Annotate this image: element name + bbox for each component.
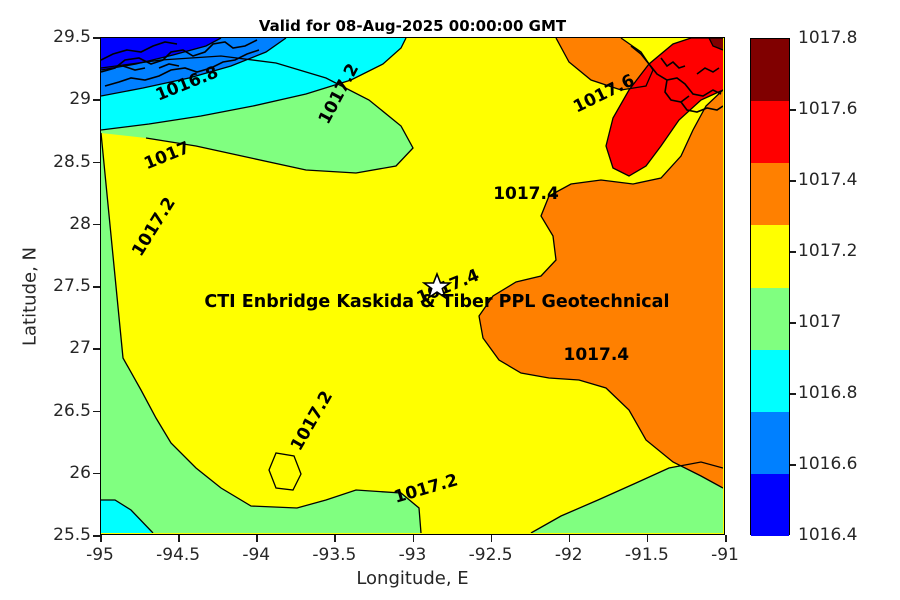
colorbar[interactable] bbox=[750, 38, 790, 535]
x-tick-mark bbox=[725, 535, 727, 542]
x-tick-mark bbox=[256, 535, 258, 542]
y-tick-mark bbox=[93, 37, 100, 39]
colorbar-tick-label: 1016.6 bbox=[798, 454, 857, 474]
colorbar-tick-label: 1016.8 bbox=[798, 383, 857, 403]
x-tick-label: -93 bbox=[399, 545, 427, 565]
y-tick-mark bbox=[93, 224, 100, 226]
colorbar-band bbox=[751, 474, 789, 536]
colorbar-tick-label: 1017.2 bbox=[798, 241, 857, 261]
x-tick-label: -94 bbox=[242, 545, 270, 565]
y-tick-label: 28.5 bbox=[5, 152, 91, 172]
colorbar-tick-mark bbox=[790, 393, 796, 395]
y-tick-mark bbox=[93, 535, 100, 537]
x-tick-label: -91 bbox=[711, 545, 739, 565]
x-tick-label: -92 bbox=[555, 545, 583, 565]
colorbar-tick-mark bbox=[790, 109, 796, 111]
y-tick-label: 25.5 bbox=[5, 525, 91, 545]
y-tick-label: 26 bbox=[5, 463, 91, 483]
colorbar-tick-mark bbox=[790, 464, 796, 466]
y-tick-label: 27.5 bbox=[5, 276, 91, 296]
pressure-contour-figure: Valid for 08-Aug-2025 00:00:00 GMT bbox=[0, 0, 900, 600]
site-annotation-label: CTI Enbridge Kaskida & Tiber PPL Geotech… bbox=[204, 292, 669, 312]
colorbar-tick-label: 1017 bbox=[798, 312, 841, 332]
colorbar-band bbox=[751, 225, 789, 287]
y-tick-mark bbox=[93, 473, 100, 475]
y-tick-label: 26.5 bbox=[5, 401, 91, 421]
colorbar-band bbox=[751, 163, 789, 225]
x-tick-mark bbox=[178, 535, 180, 542]
y-tick-label: 27 bbox=[5, 338, 91, 358]
x-tick-mark bbox=[647, 535, 649, 542]
colorbar-tick-mark bbox=[790, 322, 796, 324]
colorbar-band bbox=[751, 39, 789, 101]
y-axis-label: Latitude, N bbox=[20, 172, 41, 422]
y-tick-mark bbox=[93, 162, 100, 164]
contour-plot-svg bbox=[101, 38, 723, 533]
x-tick-label: -94.5 bbox=[156, 545, 200, 565]
colorbar-band bbox=[751, 288, 789, 350]
x-tick-label: -91.5 bbox=[625, 545, 669, 565]
x-tick-label: -92.5 bbox=[469, 545, 513, 565]
x-tick-label: -95 bbox=[86, 545, 114, 565]
colorbar-band bbox=[751, 412, 789, 474]
colorbar-tick-mark bbox=[790, 251, 796, 253]
colorbar-tick-label: 1016.4 bbox=[798, 525, 857, 545]
x-axis-label: Longitude, E bbox=[100, 568, 725, 589]
chart-title: Valid for 08-Aug-2025 00:00:00 GMT bbox=[100, 17, 725, 35]
y-tick-mark bbox=[93, 99, 100, 101]
y-tick-mark bbox=[93, 411, 100, 413]
y-tick-label: 28 bbox=[5, 214, 91, 234]
y-tick-label: 29 bbox=[5, 89, 91, 109]
x-tick-mark bbox=[100, 535, 102, 542]
colorbar-tick-label: 1017.8 bbox=[798, 28, 857, 48]
x-tick-label: -93.5 bbox=[312, 545, 356, 565]
colorbar-band bbox=[751, 350, 789, 412]
x-tick-mark bbox=[491, 535, 493, 542]
y-tick-label: 29.5 bbox=[5, 27, 91, 47]
x-tick-mark bbox=[334, 535, 336, 542]
colorbar-band bbox=[751, 101, 789, 163]
y-tick-mark bbox=[93, 348, 100, 350]
colorbar-tick-mark bbox=[790, 180, 796, 182]
y-tick-mark bbox=[93, 286, 100, 288]
x-tick-mark bbox=[413, 535, 415, 542]
colorbar-tick-label: 1017.4 bbox=[798, 170, 857, 190]
colorbar-tick-label: 1017.6 bbox=[798, 99, 857, 119]
plot-area[interactable]: 1016.810171017.21017.21017.61017.41017.4… bbox=[100, 37, 725, 535]
x-tick-mark bbox=[569, 535, 571, 542]
